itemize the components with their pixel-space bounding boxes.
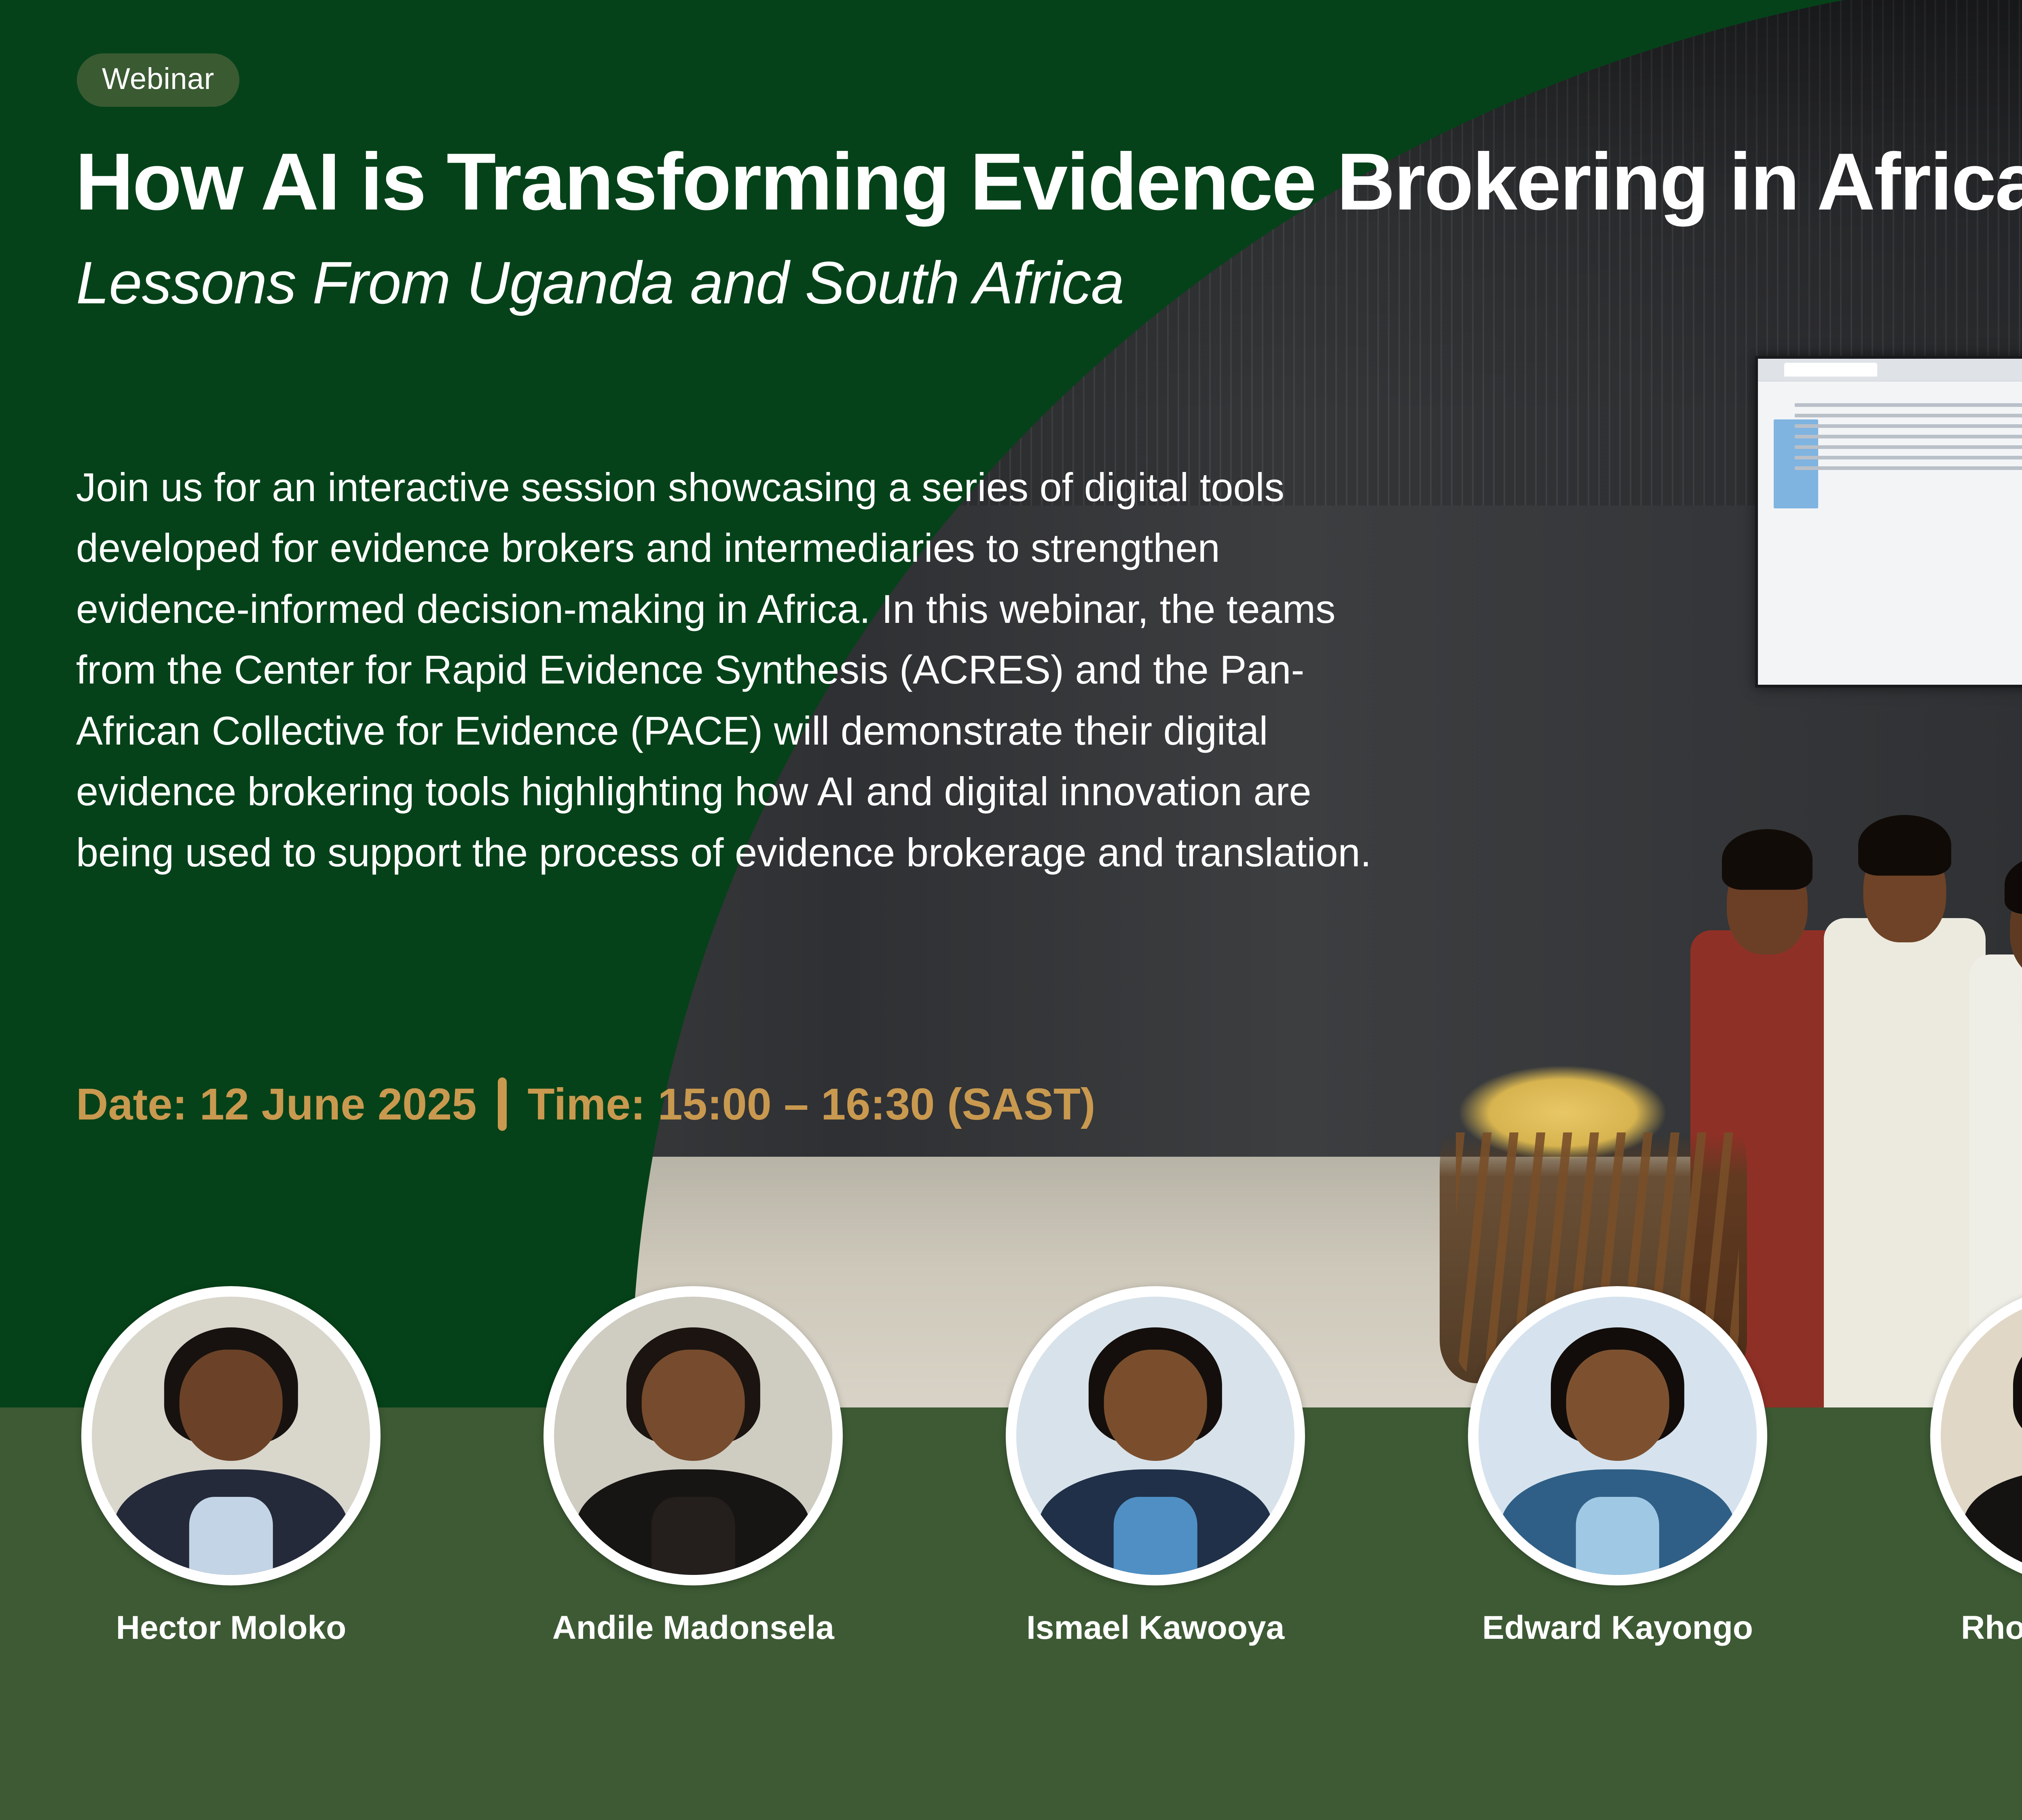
page-subtitle: Lessons From Uganda and South Africa xyxy=(76,251,1775,315)
speaker-1: Hector Moloko xyxy=(0,1286,462,1820)
webinar-badge: Webinar xyxy=(77,53,239,107)
avatar-ring xyxy=(1006,1286,1305,1585)
avatar xyxy=(92,1297,370,1575)
speaker-5: Rhona Mijumbi xyxy=(1849,1286,2022,1820)
speaker-name: Rhona Mijumbi xyxy=(1961,1608,2022,1648)
event-datetime: Date: 12 June 2025 Time: 15:00 – 16:30 (… xyxy=(76,1077,1096,1131)
speaker-3: Ismael Kawooya xyxy=(924,1286,1387,1820)
description-paragraph: Join us for an interactive session showc… xyxy=(76,457,1390,883)
avatar-ring xyxy=(81,1286,381,1585)
avatar-ring xyxy=(1930,1286,2022,1585)
speaker-name: Ismael Kawooya xyxy=(1026,1608,1284,1648)
speaker-list: Hector MolokoAndile MadonselaIsmael Kawo… xyxy=(0,1286,2022,1820)
speaker-name: Edward Kayongo xyxy=(1482,1608,1753,1648)
avatar-ring xyxy=(544,1286,843,1585)
speaker-2: Andile Madonsela xyxy=(462,1286,924,1820)
avatar xyxy=(1016,1297,1294,1575)
datetime-separator-icon xyxy=(498,1077,507,1131)
avatar xyxy=(554,1297,832,1575)
speaker-4: Edward Kayongo xyxy=(1387,1286,1849,1820)
poster-canvas: Webinar Join us for an interactive sessi… xyxy=(0,0,2022,1820)
avatar xyxy=(1941,1297,2022,1575)
speaker-name: Hector Moloko xyxy=(116,1608,346,1648)
speaker-name: Andile Madonsela xyxy=(552,1608,834,1648)
page-title: How AI is Transforming Evidence Brokerin… xyxy=(75,140,2022,224)
avatar xyxy=(1478,1297,1757,1575)
event-date: Date: 12 June 2025 xyxy=(76,1079,477,1130)
event-time: Time: 15:00 – 16:30 (SAST) xyxy=(528,1079,1096,1130)
screen-doc-tab xyxy=(1784,363,1877,377)
avatar-ring xyxy=(1468,1286,1767,1585)
